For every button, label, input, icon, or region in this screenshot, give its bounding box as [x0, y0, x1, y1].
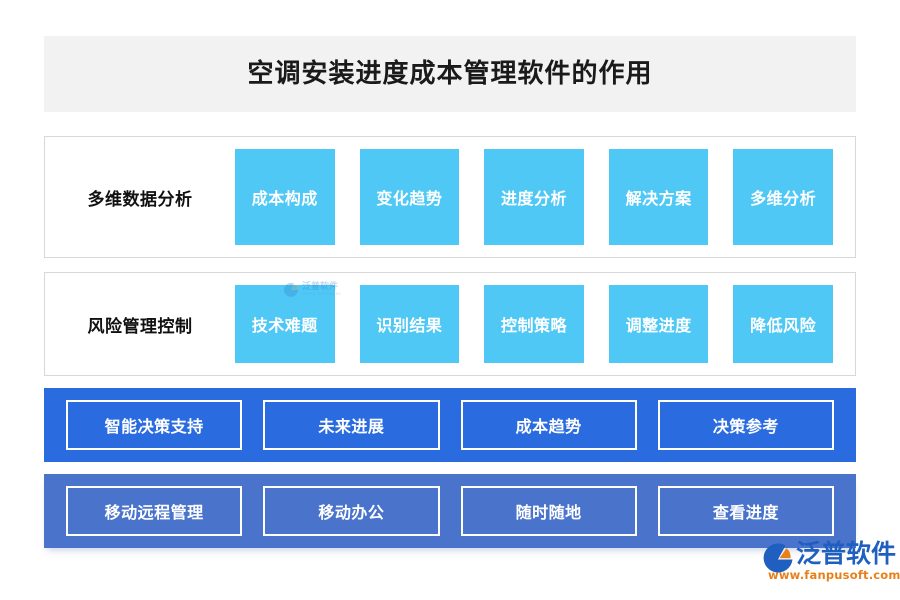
chip-item[interactable]: 识别结果 — [360, 285, 460, 363]
band-box-item[interactable]: 随时随地 — [461, 486, 637, 536]
chip-row: 成本构成 变化趋势 进度分析 解决方案 多维分析 — [235, 149, 855, 245]
brand-name-cn: 泛普软件 — [796, 541, 900, 567]
band-box-item[interactable]: 智能决策支持 — [66, 400, 242, 450]
chip-item[interactable]: 进度分析 — [484, 149, 584, 245]
band-box-item[interactable]: 查看进度 — [658, 486, 834, 536]
chip-item[interactable]: 成本构成 — [235, 149, 335, 245]
chip-item[interactable]: 技术难题 — [235, 285, 335, 363]
chip-item[interactable]: 多维分析 — [733, 149, 833, 245]
band-box-item[interactable]: 决策参考 — [658, 400, 834, 450]
section-label: 多维数据分析 — [45, 185, 235, 210]
infographic-page: 空调安装进度成本管理软件的作用 多维数据分析 成本构成 变化趋势 进度分析 解决… — [0, 0, 900, 600]
brand-url: www.fanpusoft.com — [768, 568, 900, 582]
section-card-risk-management: 风险管理控制 技术难题 识别结果 控制策略 调整进度 降低风险 — [44, 272, 856, 376]
chip-item[interactable]: 降低风险 — [733, 285, 833, 363]
band-box-item[interactable]: 未来进展 — [263, 400, 439, 450]
page-title: 空调安装进度成本管理软件的作用 — [247, 61, 652, 87]
section-card-multidimensional-analysis: 多维数据分析 成本构成 变化趋势 进度分析 解决方案 多维分析 — [44, 136, 856, 258]
band-mobile-management: 移动远程管理 移动办公 随时随地 查看进度 — [44, 474, 856, 548]
band-decision-support: 智能决策支持 未来进展 成本趋势 决策参考 — [44, 388, 856, 462]
section-label: 风险管理控制 — [45, 312, 235, 337]
band-box-item[interactable]: 移动远程管理 — [66, 486, 242, 536]
band-box-item[interactable]: 成本趋势 — [461, 400, 637, 450]
chip-row: 技术难题 识别结果 控制策略 调整进度 降低风险 — [235, 285, 855, 363]
band-box-item[interactable]: 移动办公 — [263, 486, 439, 536]
chip-item[interactable]: 调整进度 — [609, 285, 709, 363]
chip-item[interactable]: 变化趋势 — [360, 149, 460, 245]
brand-text: 泛普软件 www.fanpusoft.com — [796, 541, 900, 582]
chip-item[interactable]: 解决方案 — [609, 149, 709, 245]
brand-logo: 泛普软件 www.fanpusoft.com — [762, 541, 894, 585]
chip-item[interactable]: 控制策略 — [484, 285, 584, 363]
header-banner: 空调安装进度成本管理软件的作用 — [44, 36, 856, 112]
